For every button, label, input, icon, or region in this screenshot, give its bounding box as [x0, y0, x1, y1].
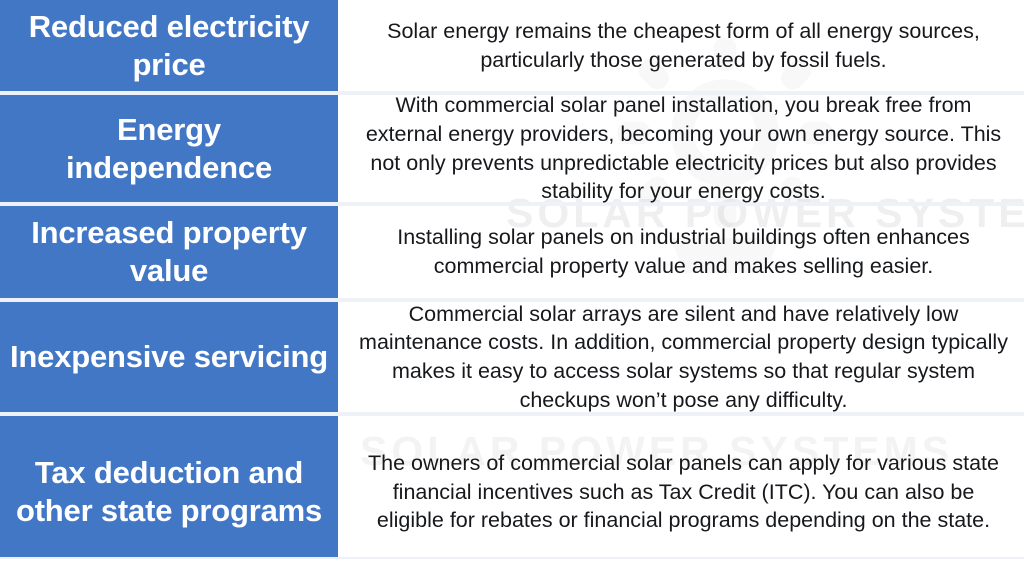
row-heading: Tax deduction and other state programs — [0, 416, 343, 568]
table-row: Increased property value Installing sola… — [0, 206, 1024, 302]
benefits-table: Reduced electricity price Solar energy r… — [0, 0, 1024, 568]
row-description: Installing solar panels on industrial bu… — [343, 206, 1024, 298]
row-heading: Reduced electricity price — [0, 0, 343, 91]
bottom-margin — [0, 558, 1024, 568]
row-heading: Energy independence — [0, 95, 343, 202]
row-description: With commercial solar panel installation… — [343, 95, 1024, 202]
table-row: Tax deduction and other state programs T… — [0, 416, 1024, 568]
row-description: Solar energy remains the cheapest form o… — [343, 0, 1024, 91]
benefits-table-page: SOLAR POWER SYSTEMS SOLAR POWER SYSTEMS … — [0, 0, 1024, 568]
bottom-divider — [0, 557, 1024, 559]
table-row: Reduced electricity price Solar energy r… — [0, 0, 1024, 95]
row-heading: Inexpensive servicing — [0, 302, 343, 412]
row-description: Commercial solar arrays are silent and h… — [343, 302, 1024, 412]
row-heading: Increased property value — [0, 206, 343, 298]
table-row: Energy independence With commercial sola… — [0, 95, 1024, 206]
row-description: The owners of commercial solar panels ca… — [343, 416, 1024, 568]
table-row: Inexpensive servicing Commercial solar a… — [0, 302, 1024, 416]
